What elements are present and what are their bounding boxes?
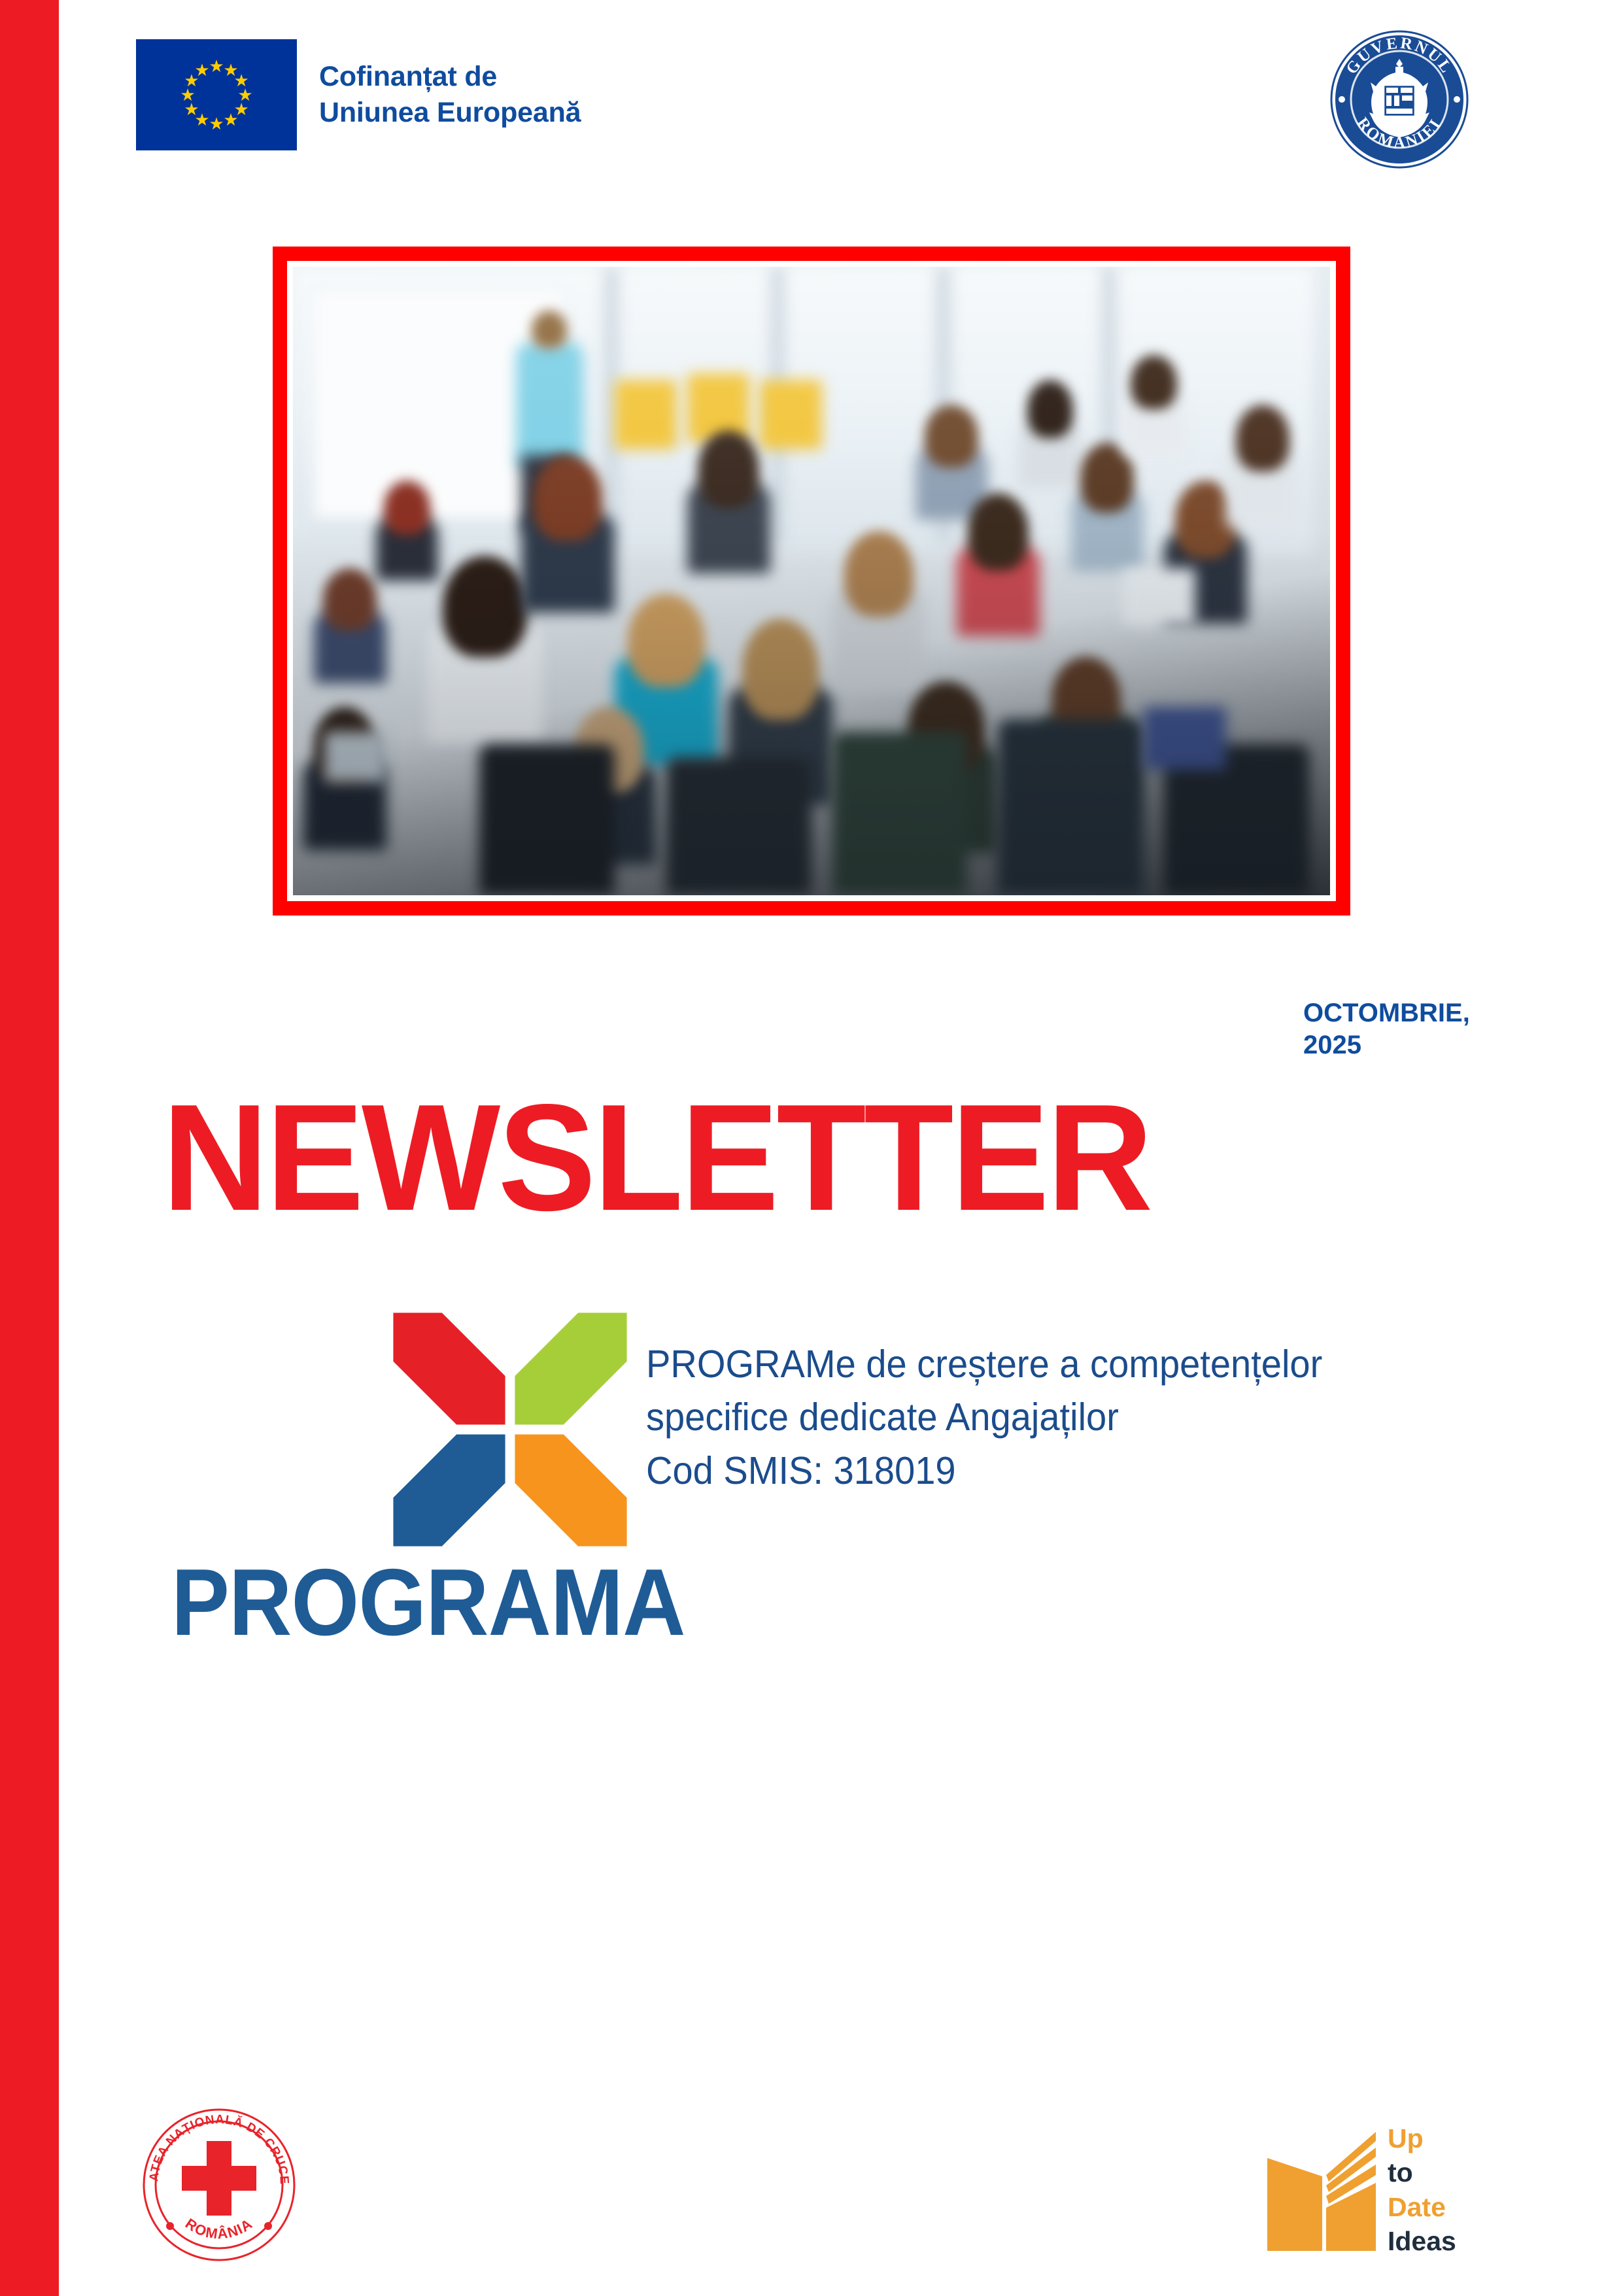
eu-cofinancing-text: Cofinanțat de Uniunea Europeană [319,59,581,131]
guvernul-romaniei-seal-icon: GUVERNUL ROMÂNIEI [1329,29,1470,170]
newsletter-cover-page: ★★★★★★★★★★★★ Cofinanțat de Uniunea Europ… [0,0,1623,2296]
eu-cofinancing-block: ★★★★★★★★★★★★ Cofinanțat de Uniunea Europ… [136,39,581,150]
utdi-line-ideas: Ideas [1388,2224,1479,2258]
photo-vignette [293,267,1330,895]
training-classroom-photo [293,267,1330,895]
open-book-icon [1266,2131,1380,2252]
left-red-stripe [0,0,59,2296]
project-description: PROGRAMe de creștere a competențelor spe… [646,1338,1528,1498]
eu-text-line1: Cofinanțat de [319,59,581,95]
up-to-date-ideas-text: Up to Date Ideas [1388,2121,1479,2259]
eu-star-icon: ★ [194,61,211,78]
eu-text-line2: Uniunea Europeană [319,95,581,131]
issue-date: OCTOMBRIE, 2025 [1303,997,1604,1061]
utdi-line-up: Up [1388,2121,1479,2155]
utdi-line-date: Date [1388,2190,1479,2224]
up-to-date-ideas-logo: Up to Date Ideas [1266,2121,1478,2263]
programa-arrows-logo [388,1308,632,1551]
hero-photo-frame [273,247,1350,916]
utdi-line-to: to [1388,2155,1479,2189]
eu-flag-icon: ★★★★★★★★★★★★ [136,39,297,150]
issue-date-year: 2025 [1303,1029,1604,1061]
programa-wordmark: PROGRAMA [171,1555,685,1650]
hero-photo-inner-border [287,261,1336,901]
project-description-line-1: PROGRAMe de creștere a competențelor [646,1338,1528,1391]
issue-date-month: OCTOMBRIE, [1303,997,1604,1029]
project-description-line-2: specifice dedicate Angajaților [646,1391,1528,1444]
page-header: ★★★★★★★★★★★★ Cofinanțat de Uniunea Europ… [0,0,1623,209]
crucea-rosie-romania-logo: SOCIETATEA NAȚIONALĂ DE CRUCE ROȘIE ROMÂ… [141,2107,297,2263]
svg-text:ROMÂNIA: ROMÂNIA [182,2215,256,2242]
project-smis-code: Cod SMIS: 318019 [646,1445,1528,1498]
page-title: NEWSLETTER [162,1082,1150,1234]
